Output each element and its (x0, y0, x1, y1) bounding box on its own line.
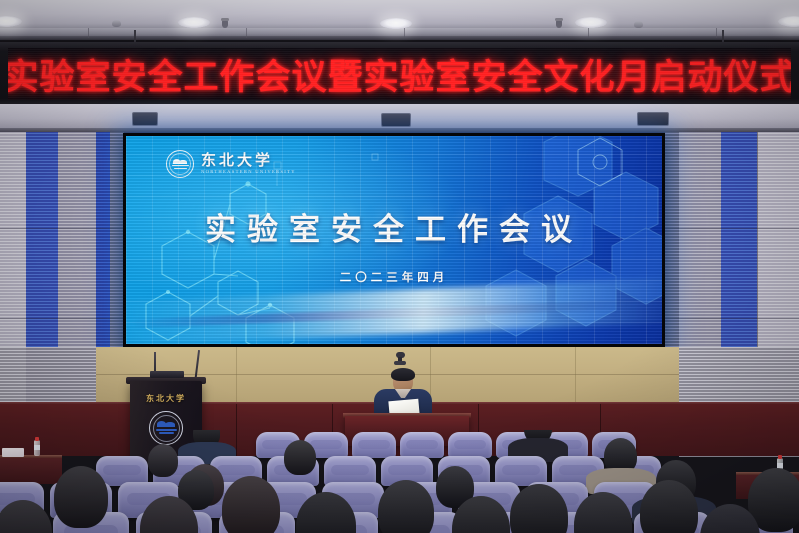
ceiling-camera-icon (222, 20, 228, 28)
wall-seam (0, 318, 124, 319)
soffit-edge (0, 128, 799, 132)
conference-hall-photo: 实验室安全工作会议暨实验室安全文化月启动仪式 (0, 0, 799, 533)
seated-speaker (372, 370, 434, 418)
smoke-detector-icon (112, 20, 121, 27)
ceiling-speaker (637, 112, 669, 126)
ceiling-shadow-line (0, 36, 799, 40)
ceiling-camera-icon (556, 20, 562, 28)
microphone-icon (392, 352, 408, 366)
podium-device (150, 371, 184, 378)
seat (352, 432, 396, 458)
smoke-detector-icon (634, 21, 643, 28)
led-banner-text: 实验室安全工作会议暨实验室安全文化月启动仪式 (8, 49, 791, 100)
ceiling-seam (716, 28, 717, 38)
attendee-head (54, 466, 108, 528)
seat-row (0, 432, 799, 458)
ceiling-downlight-icon (575, 17, 607, 28)
ceiling-speaker (132, 112, 158, 126)
wall-seam (665, 228, 799, 229)
attendee-head (284, 440, 316, 475)
beige-band-seam (236, 347, 237, 404)
ceiling-speaker (381, 113, 411, 127)
led-banner-screen: 实验室安全工作会议暨实验室安全文化月启动仪式 (8, 48, 791, 100)
audience-seating (0, 430, 799, 533)
ceiling-downlight-icon (380, 18, 412, 29)
speaker-hair (391, 368, 415, 381)
attendee-head (148, 444, 178, 477)
ceiling-seam (404, 28, 405, 38)
ceiling-downlight-icon (178, 17, 210, 28)
ceiling-seam (246, 28, 247, 38)
seat (448, 432, 492, 458)
main-led-display: 东北大学 NORTHEASTERN UNIVERSITY 实验室安全工作会议 二… (123, 133, 665, 347)
podium-nameplate: 东北大学 (130, 393, 202, 404)
led-display-surface: 东北大学 NORTHEASTERN UNIVERSITY 实验室安全工作会议 二… (126, 136, 662, 344)
wall-seam (0, 228, 124, 229)
attendee-head (222, 476, 280, 533)
wall-seam (665, 318, 799, 319)
screen-scanline-overlay (126, 136, 662, 344)
seat (400, 432, 444, 458)
ceiling-seam (588, 28, 589, 38)
beige-band-seam (575, 347, 576, 404)
ceiling-seam (88, 28, 89, 38)
